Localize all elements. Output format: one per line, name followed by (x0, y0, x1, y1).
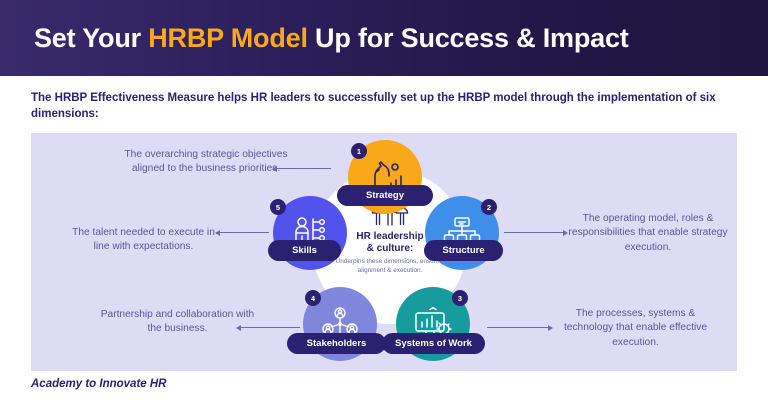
title-part-after: Up for Success & Impact (308, 23, 629, 53)
subtitle: The HRBP Effectiveness Measure helps HR … (31, 90, 731, 123)
node-label-skills[interactable]: Skills (268, 240, 341, 261)
description-stakeholders: Partnership and collaboration with the b… (100, 308, 255, 337)
description-systems-of-work: The processes, systems & technology that… (553, 307, 718, 350)
node-badge-1: 1 (351, 143, 367, 159)
node-badge-5: 5 (270, 199, 286, 215)
node-label-systems-of-work[interactable]: Systems of Work (382, 333, 485, 354)
node-label-stakeholders[interactable]: Stakeholders (287, 333, 386, 354)
connector-arrow-structure (504, 232, 564, 233)
title-part-highlight: HRBP Model (148, 23, 308, 53)
description-strategy: The overarching strategic objectives ali… (120, 148, 292, 177)
connector-arrow-skills (219, 232, 269, 233)
slide: Set Your HRBP Model Up for Success & Imp… (0, 0, 768, 402)
description-skills: The talent needed to execute in line wit… (66, 226, 221, 255)
connector-arrow-systems-of-work (487, 327, 549, 328)
connector-arrow-strategy (276, 168, 331, 169)
description-structure: The operating model, roles & responsibil… (568, 212, 728, 255)
node-label-strategy[interactable]: Strategy (337, 185, 433, 206)
hub-title-line2: & culture: (367, 243, 414, 254)
node-badge-3: 3 (452, 290, 468, 306)
node-label-structure[interactable]: Structure (424, 240, 503, 261)
hub-title-line1: HR leadership (356, 231, 423, 242)
node-badge-4: 4 (305, 290, 321, 306)
connector-arrow-stakeholders (240, 327, 300, 328)
page-title: Set Your HRBP Model Up for Success & Imp… (34, 23, 629, 54)
title-part-before: Set Your (34, 23, 148, 53)
footer-brand: Academy to Innovate HR (31, 378, 166, 390)
slide-header: Set Your HRBP Model Up for Success & Imp… (0, 0, 768, 76)
node-badge-2: 2 (481, 199, 497, 215)
